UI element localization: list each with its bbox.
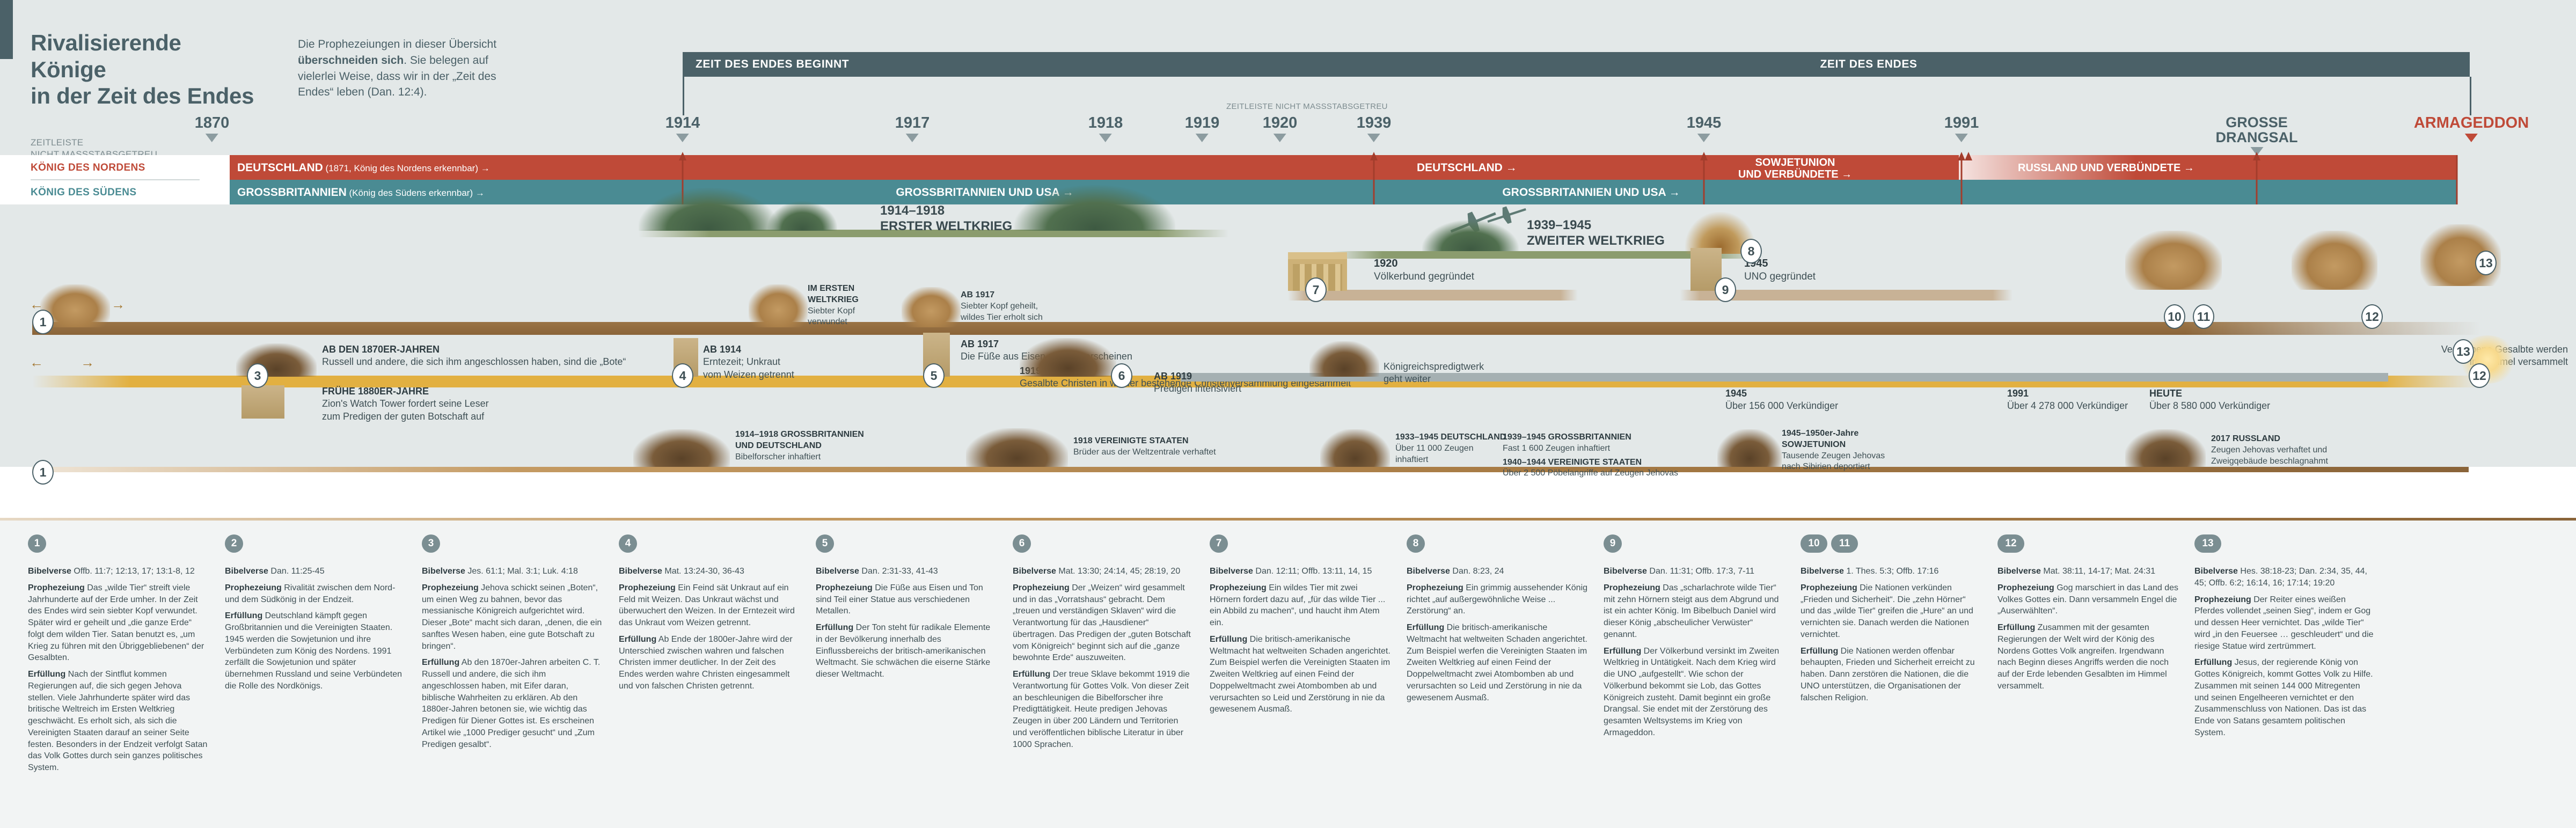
infographic-root: Rivalisierende Könige in der Zeit des En… — [0, 0, 2576, 828]
footnote-block-label: Bibelverse — [1210, 567, 1253, 576]
year-tick-label-line1: GROSSE — [2216, 115, 2298, 130]
year-tick-1945: 1945 — [1687, 115, 1722, 142]
footnote-badge-13[interactable]: 13 — [2194, 534, 2221, 553]
footnote-block-text: Ab den 1870er-Jahren arbeiten C. T. Russ… — [422, 658, 600, 749]
year-tick-arrow-icon — [1274, 134, 1286, 142]
footnote-badge-8[interactable]: 8 — [1407, 534, 1425, 553]
event-persecution-5: 1945–1950er-Jahre SOWJETUNION Tausende Z… — [1782, 428, 1885, 473]
king-north-seg-0: DEUTSCHLAND (1871, König des Nordens erk… — [237, 162, 490, 174]
watchtower-magazine-icon — [241, 385, 284, 419]
year-tick-label: 1919 — [1185, 115, 1220, 131]
footnote-block-text: Das „wilde Tier“ streift viele Jahrhunde… — [28, 583, 204, 663]
scale-note-mid: ZEITLEISTE NICHT MASSSTABSGETREU — [1226, 102, 1388, 111]
marker-badge-12-statue[interactable]: 12 — [2469, 363, 2490, 388]
footnote-block-bibelverse: Bibelverse Dan. 8:23, 24 — [1407, 566, 1587, 577]
footnote-block-erfüllung: Erfüllung Deutschland kämpft gegen Großb… — [225, 610, 406, 692]
marker-badge-12-top[interactable]: 12 — [2361, 304, 2383, 329]
marker-badge-7[interactable]: 7 — [1305, 277, 1327, 302]
footnote-block-label: Erfüllung — [422, 658, 459, 667]
footnote-block-text: Mat. 38:11, 14-17; Mat. 24:31 — [2041, 567, 2155, 576]
marker-badge-11[interactable]: 11 — [2193, 304, 2214, 329]
footnote-block-text: Nach der Sintflut kommen Regierungen auf… — [28, 670, 207, 772]
wwii-blast-silhouette — [1422, 220, 1519, 251]
footnote-badge-group: 13 — [2194, 534, 2375, 559]
footnote-block-label: Erfüllung — [28, 670, 65, 679]
war-wwii-years: 1939–1945 — [1527, 217, 1665, 233]
footnote-column-8: 8Bibelverse Dan. 8:23, 24Prophezeiung Ei… — [1407, 534, 1587, 708]
footnote-column-10-11: 1011Bibelverse 1. Thes. 5:3; Offb. 17:16… — [1801, 534, 1981, 708]
year-tick-1917: 1917 — [895, 115, 930, 142]
footnote-block-text: Mat. 13:30; 24:14, 45; 28:19, 20 — [1056, 567, 1180, 576]
footnote-badge-group: 7 — [1210, 534, 1391, 559]
year-tick-arrow-icon — [1697, 134, 1710, 142]
footnote-block-label: Prophezeiung — [2194, 595, 2251, 604]
preacher-stat-year: 1945 — [1725, 387, 1838, 400]
footnote-block-label: Erfüllung — [1407, 623, 1444, 632]
footnote-block-label: Bibelverse — [28, 567, 71, 576]
title-accent-rule — [0, 0, 13, 59]
footnote-badge-11[interactable]: 11 — [1831, 534, 1858, 553]
footnote-block-label: Prophezeiung — [1997, 583, 2054, 592]
preacher-figures-icon — [1309, 341, 1379, 377]
footnote-block-prophezeiung: Prophezeiung Ein wildes Tier mit zwei Hö… — [1210, 582, 1391, 629]
footnote-block-text: Zusammen mit der gesamten Regierungen de… — [1997, 623, 2169, 691]
footnote-block-erfüllung: Erfüllung Nach der Sintflut kommen Regie… — [28, 669, 209, 774]
footnote-block-erfüllung: Erfüllung Ab den 1870er-Jahren arbeiten … — [422, 657, 603, 750]
footnote-block-text: Jes. 61:1; Mal. 3:1; Luk. 4:18 — [465, 567, 578, 576]
year-tick-label: 1918 — [1088, 115, 1123, 131]
footnote-block-text: Jesus, der regierende König von Gottes K… — [2194, 658, 2373, 737]
persecution-prisoners-icon-3 — [1320, 429, 1390, 467]
footnote-block-erfüllung: Erfüllung Der treue Sklave bekommt 1919 … — [1013, 669, 1194, 750]
footnote-block-bibelverse: Bibelverse Dan. 11:25-45 — [225, 566, 406, 577]
event-anointed-heaven: Verbliebene Gesalbte werden im Himmel ve… — [2332, 343, 2568, 369]
footnote-block-erfüllung: Erfüllung Die Nationen werden offenbar b… — [1801, 646, 1981, 704]
footnote-badge-3[interactable]: 3 — [422, 534, 440, 553]
year-tick-1939: 1939 — [1357, 115, 1392, 142]
footnote-block-label: Prophezeiung — [1801, 583, 1857, 592]
king-south-seg-0: GROSSBRITANNIEN (König des Südens erkenn… — [237, 186, 485, 199]
event-beast-wwi: IM ERSTEN WELTKRIEG Siebter Kopf verwund… — [808, 283, 859, 328]
footnote-block-label: Erfüllung — [1604, 647, 1641, 656]
scale-note-left-line1: ZEITLEISTE — [31, 137, 170, 149]
marker-badge-1-beast[interactable]: 1 — [32, 310, 54, 334]
footnote-block-bibelverse: Bibelverse Hes. 38:18-23; Dan. 2:34, 35,… — [2194, 566, 2375, 589]
footnote-block-text: Dan. 11:31; Offb. 17:3, 7-11 — [1647, 567, 1754, 576]
persecution-prisoners-icon-4 — [1717, 429, 1782, 467]
footnote-block-label: Prophezeiung — [1013, 583, 1070, 592]
footnote-block-label: Erfüllung — [816, 623, 853, 632]
footnote-block-prophezeiung: Prophezeiung Der Reiter eines weißen Pfe… — [2194, 594, 2375, 653]
intro-paragraph: Die Prophezeiungen in dieser Übersicht ü… — [298, 36, 518, 100]
year-tick-arrow-icon — [1196, 134, 1209, 142]
page-title-line1: Rivalisierende Könige — [31, 30, 261, 83]
footnote-badge-group: 1 — [28, 534, 209, 559]
event-persecution-2: 1918 VEREINIGTE STAATEN Brüder aus der W… — [1073, 436, 1216, 458]
footnote-block-text: Die britisch-amerikanische Weltmacht hat… — [1210, 635, 1391, 714]
footnote-badge-5[interactable]: 5 — [816, 534, 834, 553]
event-1870er: AB DEN 1870ER-JAHREN Russell und andere,… — [322, 343, 626, 369]
year-tick-arrow-icon — [1367, 134, 1380, 142]
footnote-badge-2[interactable]: 2 — [225, 534, 243, 553]
footnote-block-text: Mat. 13:24-30, 36-43 — [662, 567, 744, 576]
footnote-block-label: Erfüllung — [1997, 623, 2035, 632]
footnote-body: Bibelverse Dan. 2:31-33, 41-43Prophezeiu… — [816, 566, 997, 680]
footnote-block-label: Prophezeiung — [422, 583, 479, 592]
bar-pinline-1939 — [1373, 155, 1375, 204]
era-tick-line-1914 — [683, 77, 684, 115]
footnote-block-label: Bibelverse — [2194, 567, 2238, 576]
bar-pinline-armageddon — [2456, 155, 2458, 204]
event-persecution-3: 1933–1945 DEUTSCHLAND Über 11 000 Zeugen… — [1395, 432, 1506, 465]
footnote-body: Bibelverse Offb. 11:7; 12:13, 17; 13:1-8… — [28, 566, 209, 774]
footnote-badge-10[interactable]: 10 — [1801, 534, 1827, 553]
king-south-label: KÖNIG DES SÜDENS — [31, 187, 137, 199]
footnote-body: Bibelverse Hes. 38:18-23; Dan. 2:34, 35,… — [2194, 566, 2375, 739]
preacher-stat-1: 1991Über 4 278 000 Verkündiger — [2007, 387, 2128, 413]
intro-pre: Die Prophezeiungen in dieser Übersicht — [298, 38, 496, 50]
preacher-stat-count: Über 156 000 Verkündiger — [1725, 400, 1838, 412]
footnote-block-bibelverse: Bibelverse Dan. 12:11; Offb. 13:11, 14, … — [1210, 566, 1391, 577]
footnote-badge-1[interactable]: 1 — [28, 534, 46, 553]
footnote-block-prophezeiung: Prophezeiung Das „scharlachrote wilde Ti… — [1604, 582, 1784, 641]
footnote-block-bibelverse: Bibelverse Mat. 38:11, 14-17; Mat. 24:31 — [1997, 566, 2178, 577]
year-tick-label: GROSSEDRANGSAL — [2216, 115, 2298, 145]
footnote-block-erfüllung: Erfüllung Ab Ende der 1800er-Jahre wird … — [619, 634, 800, 692]
footnote-badge-group: 9 — [1604, 534, 1784, 559]
footnote-block-bibelverse: Bibelverse Offb. 11:7; 12:13, 17; 13:1-8… — [28, 566, 209, 577]
war-label-wwii: 1939–1945 ZWEITER WELTKRIEG — [1527, 217, 1665, 249]
footnote-block-bibelverse: Bibelverse Mat. 13:30; 24:14, 45; 28:19,… — [1013, 566, 1194, 577]
footnote-block-text: Dan. 11:25-45 — [268, 567, 325, 576]
preacher-stat-0: 1945Über 156 000 Verkündiger — [1725, 387, 1838, 413]
event-persecution-6: 2017 RUSSLAND Zeugen Jehovas verhaftet u… — [2211, 434, 2328, 467]
footnote-block-label: Erfüllung — [619, 635, 656, 644]
footnote-block-bibelverse: Bibelverse Mat. 13:24-30, 36-43 — [619, 566, 800, 577]
arrow-right-icon-2: → — [80, 354, 94, 371]
event-persecution-4: 1939–1945 GROSSBRITANNIEN Fast 1 600 Zeu… — [1503, 432, 1678, 479]
footnote-column-4: 4Bibelverse Mat. 13:24-30, 36-43Propheze… — [619, 534, 800, 697]
footnote-block-label: Erfüllung — [1013, 670, 1050, 679]
era-bar-main: ZEIT DES ENDES — [1268, 52, 2470, 77]
king-bars-zone: KÖNIG DES NORDENS KÖNIG DES SÜDENS DEUTS… — [0, 155, 2576, 204]
year-tick-1918: 1918 — [1088, 115, 1123, 142]
era-bar-begin: ZEIT DES ENDES BEGINNT — [683, 52, 1268, 77]
king-north-seg-2: SOWJETUNION UND VERBÜNDETE → — [1738, 157, 1852, 180]
persecution-base-rule — [32, 467, 2469, 472]
era-bar-group: ZEIT DES ENDES BEGINNT ZEIT DES ENDES — [683, 52, 2470, 77]
king-label-divider — [31, 179, 200, 180]
footnote-block-label: Erfüllung — [2194, 658, 2232, 667]
footnote-block-label: Prophezeiung — [1604, 583, 1660, 592]
footnote-block-label: Bibelverse — [1801, 567, 1844, 576]
wild-beast-band — [32, 322, 2479, 335]
year-tick-arrow-icon — [206, 134, 218, 142]
beast-icon-wwi — [749, 284, 808, 327]
footnote-column-2: 2Bibelverse Dan. 11:25-45Prophezeiung Ri… — [225, 534, 406, 697]
footnote-column-13: 13Bibelverse Hes. 38:18-23; Dan. 2:34, 3… — [2194, 534, 2375, 744]
marker-badge-9[interactable]: 9 — [1715, 277, 1736, 302]
preacher-stat-count: Über 4 278 000 Verkündiger — [2007, 400, 2128, 412]
marker-badge-13-statue[interactable]: 13 — [2453, 339, 2474, 364]
marker-badge-10[interactable]: 10 — [2164, 304, 2185, 329]
footnote-body: Bibelverse Dan. 8:23, 24Prophezeiung Ein… — [1407, 566, 1587, 704]
year-tick-label: ARMAGEDDON — [2414, 115, 2529, 131]
war-wwi-years: 1914–1918 — [880, 203, 1012, 218]
preacher-stat-year: HEUTE — [2149, 387, 2270, 400]
event-ab1914: AB 1914 Erntezeit; Unkraut vom Weizen ge… — [703, 343, 794, 381]
footnote-body: Bibelverse Dan. 11:31; Offb. 17:3, 7-11P… — [1604, 566, 1784, 739]
footnote-block-prophezeiung: Prophezeiung Rivalität zwischen dem Nord… — [225, 582, 406, 606]
footnote-block-text: Dan. 12:11; Offb. 13:11, 14, 15 — [1253, 567, 1372, 576]
footnote-badge-group: 6 — [1013, 534, 1194, 559]
king-south-seg-2: GROSSBRITANNIEN UND USA → — [1502, 186, 1680, 199]
footnote-column-3: 3Bibelverse Jes. 61:1; Mal. 3:1; Luk. 4:… — [422, 534, 603, 755]
footnote-block-prophezeiung: Prophezeiung Jehova schickt seinen „Bote… — [422, 582, 603, 653]
persecution-prisoners-icon-2 — [966, 428, 1068, 467]
footnote-block-label: Erfüllung — [1210, 635, 1247, 644]
event-persecution-1: 1914–1918 GROSSBRITANNIEN UND DEUTSCHLAN… — [735, 429, 864, 463]
king-north-seg-3: RUSSLAND UND VERBÜNDETE → — [2018, 162, 2194, 174]
footnote-badge-group: 5 — [816, 534, 997, 559]
event-voelkerbund: 1920 Völkerbund gegründet — [1374, 257, 1474, 284]
footnote-block-bibelverse: Bibelverse Dan. 2:31-33, 41-43 — [816, 566, 997, 577]
year-tick-label-line2: DRANGSAL — [2216, 130, 2298, 145]
wwi-artillery-silhouette — [639, 188, 778, 231]
footnote-column-6: 6Bibelverse Mat. 13:30; 24:14, 45; 28:19… — [1013, 534, 1194, 755]
year-tick-label: 1939 — [1357, 115, 1392, 131]
footnote-block-prophezeiung: Prophezeiung Das „wilde Tier“ streift vi… — [28, 582, 209, 664]
footnote-block-label: Bibelverse — [1407, 567, 1450, 576]
footnote-body: Bibelverse Jes. 61:1; Mal. 3:1; Luk. 4:1… — [422, 566, 603, 750]
event-kingdom-work: Königreichspredigtwerk geht weiter — [1384, 361, 1484, 386]
footnote-column-1: 1Bibelverse Offb. 11:7; 12:13, 17; 13:1-… — [28, 534, 209, 779]
footnote-badge-group: 4 — [619, 534, 800, 559]
footnote-column-12: 12Bibelverse Mat. 38:11, 14-17; Mat. 24:… — [1997, 534, 2178, 697]
bar-pinline-drangsal — [2256, 155, 2258, 204]
beast-icon-1917 — [902, 287, 961, 327]
beast-riders-icon — [2125, 231, 2222, 290]
marker-badge-6[interactable]: 6 — [1111, 363, 1132, 388]
footnote-block-text: Dan. 2:31-33, 41-43 — [859, 567, 938, 576]
footnote-badge-group: 8 — [1407, 534, 1587, 559]
footnote-block-text: Deutschland kämpft gegen Großbritannien … — [225, 611, 402, 691]
year-tick-label: 1945 — [1687, 115, 1722, 131]
bar-pinline-1945 — [1703, 155, 1705, 204]
preacher-stat-count: Über 8 580 000 Verkündiger — [2149, 400, 2270, 412]
footnote-block-bibelverse: Bibelverse 1. Thes. 5:3; Offb. 17:16 — [1801, 566, 1981, 577]
footnote-block-label: Bibelverse — [619, 567, 662, 576]
footnote-column-5: 5Bibelverse Dan. 2:31-33, 41-43Prophezei… — [816, 534, 997, 685]
footnote-block-prophezeiung: Prophezeiung Gog marschiert in das Land … — [1997, 582, 2178, 617]
marker-badge-3[interactable]: 3 — [247, 363, 268, 388]
footnote-column-9: 9Bibelverse Dan. 11:31; Offb. 17:3, 7-11… — [1604, 534, 1784, 744]
footnote-block-bibelverse: Bibelverse Jes. 61:1; Mal. 3:1; Luk. 4:1… — [422, 566, 603, 577]
footnote-block-label: Prophezeiung — [1407, 583, 1463, 592]
footnote-block-erfüllung: Erfüllung Die britisch-amerikanische Wel… — [1407, 622, 1587, 704]
year-tick-1870: 1870 — [195, 115, 230, 142]
marker-badge-5[interactable]: 5 — [923, 363, 945, 388]
footnote-block-label: Erfüllung — [225, 611, 262, 620]
marker-badge-1-bottom[interactable]: 1 — [32, 460, 54, 485]
event-1880er: FRÜHE 1880ER-JAHRE Zion's Watch Tower fo… — [322, 385, 489, 423]
footnote-block-text: Der „Weizen“ wird gesammelt und in das „… — [1013, 583, 1191, 663]
footnote-badge-group: 12 — [1997, 534, 2178, 559]
footnote-block-prophezeiung: Prophezeiung Die Nationen verkünden „Fri… — [1801, 582, 1981, 641]
wwi-soldier-silhouette — [767, 201, 837, 231]
footnote-badge-7[interactable]: 7 — [1210, 534, 1228, 553]
year-tick-label: 1870 — [195, 115, 230, 131]
wwi-tank-silhouette — [1014, 185, 1175, 231]
footnote-block-text: Dan. 8:23, 24 — [1450, 567, 1504, 576]
king-north-label: KÖNIG DES NORDENS — [31, 162, 145, 174]
footnote-block-label: Bibelverse — [816, 567, 859, 576]
league-band — [1288, 290, 1578, 301]
page-title-line2: in der Zeit des Endes — [31, 83, 261, 109]
era-tick-line-armageddon — [2470, 77, 2471, 115]
footnote-block-prophezeiung: Prophezeiung Der „Weizen“ wird gesammelt… — [1013, 582, 1194, 664]
footnote-block-erfüllung: Erfüllung Der Ton steht für radikale Ele… — [816, 622, 997, 680]
preacher-stat-2: HEUTEÜber 8 580 000 Verkündiger — [2149, 387, 2270, 413]
footnote-block-bibelverse: Bibelverse Dan. 11:31; Offb. 17:3, 7-11 — [1604, 566, 1784, 577]
footnote-block-text: Die britisch-amerikanische Weltmacht hat… — [1407, 623, 1587, 702]
king-south-bar — [230, 180, 2457, 204]
year-tick-1914: 1914 — [665, 115, 700, 142]
footnote-badge-4[interactable]: 4 — [619, 534, 637, 553]
footnote-block-prophezeiung: Prophezeiung Ein grimmig aussehender Kön… — [1407, 582, 1587, 617]
footnote-block-label: Bibelverse — [225, 567, 268, 576]
footnote-block-prophezeiung: Prophezeiung Die Füße aus Eisen und Ton … — [816, 582, 997, 617]
footnote-block-text: Der treue Sklave bekommt 1919 die Verant… — [1013, 670, 1190, 749]
footnote-badge-group: 3 — [422, 534, 603, 559]
footnote-block-label: Bibelverse — [1013, 567, 1056, 576]
footnote-block-erfüllung: Erfüllung Die britisch-amerikanische Wel… — [1210, 634, 1391, 715]
footnote-body: Bibelverse Dan. 12:11; Offb. 13:11, 14, … — [1210, 566, 1391, 715]
footnote-badge-9[interactable]: 9 — [1604, 534, 1622, 553]
footnote-body: Bibelverse Mat. 38:11, 14-17; Mat. 24:31… — [1997, 566, 2178, 692]
footnote-body: Bibelverse Dan. 11:25-45Prophezeiung Riv… — [225, 566, 406, 692]
footnote-badge-group: 2 — [225, 534, 406, 559]
year-tick-label: 1914 — [665, 115, 700, 131]
bar-pin-1991b — [1965, 152, 1972, 160]
event-beast-1917: AB 1917 Siebter Kopf geheilt, wildes Tie… — [961, 290, 1043, 323]
footnote-badge-group: 1011 — [1801, 534, 1981, 559]
war-wwii-name: ZWEITER WELTKRIEG — [1527, 233, 1665, 248]
intro-emphasis: überschneiden sich — [298, 54, 404, 67]
year-tick-1991: 1991 — [1944, 115, 1979, 142]
footnote-body: Bibelverse Mat. 13:24-30, 36-43Prophezei… — [619, 566, 800, 692]
footnote-block-text: Jehova schickt seinen „Boten“, um einen … — [422, 583, 602, 651]
year-tick-arrow-icon — [906, 134, 919, 142]
year-tick-label: 1920 — [1263, 115, 1298, 131]
year-tick-armageddon: ARMAGEDDON — [2414, 115, 2529, 142]
year-tick-label: 1991 — [1944, 115, 1979, 131]
year-tick-1920: 1920 — [1263, 115, 1298, 142]
marker-badge-4[interactable]: 4 — [672, 363, 693, 388]
arrow-right-icon: → — [111, 296, 125, 313]
page-title: Rivalisierende Könige in der Zeit des En… — [31, 30, 261, 109]
footnote-block-label: Erfüllung — [1801, 647, 1838, 656]
footnote-column-7: 7Bibelverse Dan. 12:11; Offb. 13:11, 14,… — [1210, 534, 1391, 720]
footnote-block-label: Prophezeiung — [619, 583, 676, 592]
preaching-crowd-icon — [1020, 338, 1116, 377]
footnote-block-text: Offb. 11:7; 12:13, 17; 13:1-8, 12 — [71, 567, 195, 576]
bar-pinline-1991 — [1961, 155, 1963, 204]
footnote-block-label: Prophezeiung — [28, 583, 85, 592]
footnote-block-erfüllung: Erfüllung Der Völkerbund versinkt im Zwe… — [1604, 646, 1784, 739]
preacher-stat-year: 1991 — [2007, 387, 2128, 400]
footnote-block-label: Prophezeiung — [816, 583, 873, 592]
event-ab1919: AB 1919 Predigen intensiviert — [1154, 370, 1241, 395]
war-label-wwi: 1914–1918 ERSTER WELTKRIEG — [880, 203, 1012, 235]
year-tick-grosse: GROSSEDRANGSAL — [2216, 115, 2298, 156]
year-tick-arrow-icon — [676, 134, 689, 142]
marker-badge-8[interactable]: 8 — [1740, 239, 1762, 263]
footnote-block-label: Bibelverse — [1604, 567, 1647, 576]
year-tick-arrow-icon — [1955, 134, 1968, 142]
year-tick-arrow-icon — [2465, 134, 2478, 142]
marker-badge-13-top[interactable]: 13 — [2475, 251, 2497, 275]
footnote-badge-12[interactable]: 12 — [1997, 534, 2024, 553]
footnote-block-label: Bibelverse — [422, 567, 465, 576]
footnote-block-label: Prophezeiung — [1210, 583, 1267, 592]
footnotes-panel: 1Bibelverse Offb. 11:7; 12:13, 17; 13:1-… — [0, 521, 2576, 828]
footnote-block-text: 1. Thes. 5:3; Offb. 17:16 — [1844, 567, 1938, 576]
footnote-block-label: Prophezeiung — [225, 583, 282, 592]
footnote-block-erfüllung: Erfüllung Zusammen mit der gesamten Regi… — [1997, 622, 2178, 692]
footnote-body: Bibelverse 1. Thes. 5:3; Offb. 17:16Prop… — [1801, 566, 1981, 704]
persecution-prisoners-icon-1 — [633, 429, 730, 467]
arrow-left-icon-2: ← — [30, 354, 43, 371]
year-tick-1919: 1919 — [1185, 115, 1220, 142]
footnote-block-erfüllung: Erfüllung Jesus, der regierende König vo… — [2194, 657, 2375, 738]
footnote-block-text: Der Völkerbund versinkt im Zweiten Weltk… — [1604, 647, 1779, 737]
footnote-block-prophezeiung: Prophezeiung Ein Feind sät Unkraut auf e… — [619, 582, 800, 629]
persecution-prisoners-icon-5 — [2125, 429, 2206, 467]
footnote-block-label: Bibelverse — [1997, 567, 2041, 576]
year-tick-arrow-icon — [1099, 134, 1112, 142]
footnote-badge-6[interactable]: 6 — [1013, 534, 1031, 553]
year-tick-label: 1917 — [895, 115, 930, 131]
king-north-seg-1: DEUTSCHLAND → — [1417, 162, 1517, 174]
footnote-body: Bibelverse Mat. 13:30; 24:14, 45; 28:19,… — [1013, 566, 1194, 750]
beast-armies-icon — [2292, 231, 2377, 290]
war-wwi-name: ERSTER WELTKRIEG — [880, 218, 1012, 234]
